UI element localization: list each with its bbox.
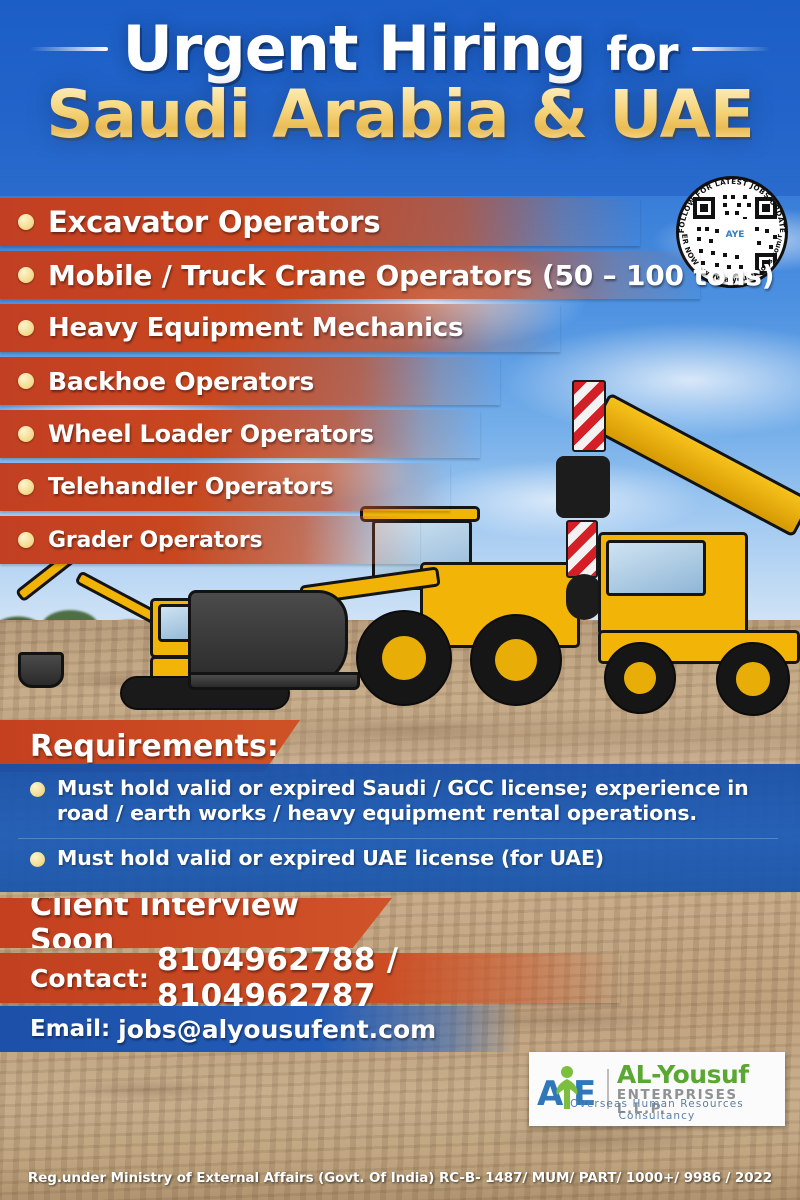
job-label: Excavator Operators	[48, 205, 380, 239]
job-item: Backhoe Operators	[0, 357, 500, 405]
requirements-heading: Requirements:	[30, 729, 279, 764]
footer-registration-bar: Reg.under Ministry of External Affairs (…	[0, 1156, 800, 1200]
email-bar[interactable]: Email: jobs@alyousufent.com	[0, 1006, 520, 1052]
headline-line-2: Saudi Arabia & UAE	[0, 82, 800, 148]
requirement-text: Must hold valid or expired Saudi / GCC l…	[57, 776, 776, 826]
job-label: Mobile / Truck Crane Operators (50 – 100…	[48, 259, 774, 292]
email-address[interactable]: jobs@alyousufent.com	[118, 1015, 436, 1044]
job-item: Wheel Loader Operators	[0, 410, 480, 458]
job-item: Grader Operators	[0, 516, 420, 564]
job-item: Telehandler Operators	[0, 463, 450, 511]
headline-rule-left	[30, 47, 108, 51]
bullet-dot-icon	[18, 373, 34, 389]
contact-phone-numbers[interactable]: 8104962788 / 8104962787	[157, 942, 620, 1014]
bullet-dot-icon	[18, 479, 34, 495]
job-item: Mobile / Truck Crane Operators (50 – 100…	[0, 251, 700, 299]
requirement-item: Must hold valid or expired UAE license (…	[0, 846, 800, 871]
headline-for: for	[606, 27, 677, 81]
requirement-text: Must hold valid or expired UAE license (…	[57, 846, 604, 871]
headline-line-1: Urgent Hiring for	[122, 18, 677, 80]
bullet-dot-icon	[18, 267, 34, 283]
recruitment-poster: Urgent Hiring for Saudi Arabia & UAE	[0, 0, 800, 1200]
bullet-dot-icon	[18, 532, 34, 548]
job-item: Heavy Equipment Mechanics	[0, 304, 560, 352]
bullet-dot-icon	[18, 214, 34, 230]
headline-primary: Urgent Hiring	[122, 12, 585, 85]
requirements-divider	[18, 838, 778, 839]
requirements-list: Must hold valid or expired Saudi / GCC l…	[0, 764, 800, 892]
company-logo: A E AL-Yousuf ENTERPRISES L.L.P. Oversea…	[529, 1052, 785, 1126]
job-label: Heavy Equipment Mechanics	[48, 313, 463, 343]
contact-label: Contact:	[30, 964, 149, 993]
job-list: Excavator Operators Mobile / Truck Crane…	[0, 198, 800, 569]
registration-text: Reg.under Ministry of External Affairs (…	[28, 1170, 772, 1186]
bullet-dot-icon	[30, 852, 45, 867]
client-interview-banner: Client Interview Soon	[0, 898, 392, 948]
requirement-item: Must hold valid or expired Saudi / GCC l…	[0, 776, 800, 826]
job-label: Wheel Loader Operators	[48, 420, 374, 448]
email-label: Email:	[30, 1016, 110, 1042]
contact-bar[interactable]: Contact: 8104962788 / 8104962787	[0, 953, 620, 1003]
logo-tagline: Overseas Human Resources Consultancy	[537, 1098, 777, 1122]
job-label: Backhoe Operators	[48, 367, 314, 396]
bullet-dot-icon	[30, 782, 45, 797]
job-label: Grader Operators	[48, 528, 262, 553]
bullet-dot-icon	[18, 320, 34, 336]
poster-headline: Urgent Hiring for Saudi Arabia & UAE	[0, 18, 800, 148]
job-item: Excavator Operators	[0, 198, 640, 246]
job-label: Telehandler Operators	[48, 474, 333, 500]
headline-rule-right	[692, 47, 770, 51]
bullet-dot-icon	[18, 426, 34, 442]
logo-company-name: AL-Yousuf	[617, 1062, 777, 1087]
